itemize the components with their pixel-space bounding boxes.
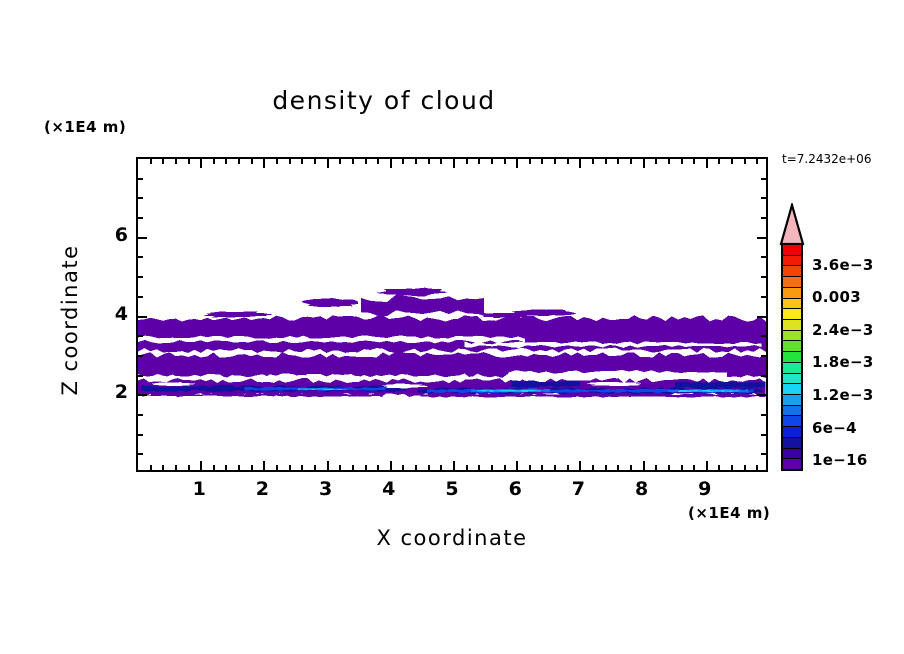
x-tick-minor bbox=[428, 465, 430, 470]
x-tick-top-minor bbox=[289, 159, 291, 164]
y-tick-minor bbox=[138, 434, 143, 436]
x-tick-top-minor bbox=[756, 159, 758, 164]
x-tick-minor bbox=[504, 465, 506, 470]
y-tick-right-minor bbox=[761, 256, 766, 258]
x-tick-top-minor bbox=[718, 159, 720, 164]
y-tick-label: 4 bbox=[88, 303, 128, 325]
colorbar-segment bbox=[783, 341, 801, 352]
x-tick-top-minor bbox=[478, 159, 480, 164]
x-tick-top-minor bbox=[567, 159, 569, 164]
x-tick-top-major bbox=[453, 159, 455, 168]
x-tick-minor bbox=[592, 465, 594, 470]
x-tick-top-minor bbox=[175, 159, 177, 164]
x-tick-minor bbox=[617, 465, 619, 470]
x-tick-top-major bbox=[579, 159, 581, 168]
x-tick-minor bbox=[314, 465, 316, 470]
colorbar-segment bbox=[783, 449, 801, 460]
x-tick-top-minor bbox=[402, 159, 404, 164]
x-tick-minor bbox=[440, 465, 442, 470]
x-tick-top-minor bbox=[162, 159, 164, 164]
y-tick-major bbox=[138, 394, 147, 396]
colorbar-segment bbox=[783, 374, 801, 385]
colorbar-segment bbox=[783, 277, 801, 288]
x-tick-minor bbox=[529, 465, 531, 470]
x-tick-minor bbox=[655, 465, 657, 470]
y-tick-right-minor bbox=[761, 178, 766, 180]
x-tick-minor bbox=[251, 465, 253, 470]
contour-patch-upper-crest bbox=[375, 288, 448, 297]
x-tick-top-minor bbox=[504, 159, 506, 164]
colorbar-tick-label: 3.6e−3 bbox=[812, 256, 874, 274]
x-tick-label: 5 bbox=[432, 478, 472, 500]
x-axis-unit-label: (×1E4 m) bbox=[688, 504, 770, 522]
y-tick-right-major bbox=[757, 316, 766, 318]
x-tick-top-minor bbox=[238, 159, 240, 164]
x-tick-top-minor bbox=[617, 159, 619, 164]
y-tick-right-minor bbox=[761, 197, 766, 199]
x-tick-top-minor bbox=[630, 159, 632, 164]
colorbar-segment bbox=[783, 266, 801, 277]
x-tick-major bbox=[263, 461, 265, 470]
colorbar-segment bbox=[783, 288, 801, 299]
colorbar-segment bbox=[783, 363, 801, 374]
x-tick-top-minor bbox=[592, 159, 594, 164]
colorbar-tick-label: 0.003 bbox=[812, 288, 861, 306]
y-tick-right-minor bbox=[761, 217, 766, 219]
x-tick-top-minor bbox=[554, 159, 556, 164]
x-tick-top-minor bbox=[744, 159, 746, 164]
y-tick-right-minor bbox=[761, 296, 766, 298]
y-tick-right-minor bbox=[761, 276, 766, 278]
colorbar-segment bbox=[783, 395, 801, 406]
x-tick-minor bbox=[605, 465, 607, 470]
y-tick-minor bbox=[138, 217, 143, 219]
x-tick-major bbox=[390, 461, 392, 470]
x-tick-minor bbox=[415, 465, 417, 470]
x-tick-minor bbox=[289, 465, 291, 470]
x-tick-minor bbox=[744, 465, 746, 470]
x-tick-major bbox=[453, 461, 455, 470]
x-tick-minor bbox=[491, 465, 493, 470]
x-tick-top-major bbox=[516, 159, 518, 168]
x-tick-minor bbox=[554, 465, 556, 470]
y-tick-label: 6 bbox=[88, 224, 128, 246]
x-tick-minor bbox=[402, 465, 404, 470]
x-tick-minor bbox=[238, 465, 240, 470]
x-tick-top-major bbox=[327, 159, 329, 168]
x-tick-top-minor bbox=[251, 159, 253, 164]
x-tick-top-minor bbox=[352, 159, 354, 164]
x-tick-minor bbox=[478, 465, 480, 470]
x-tick-top-minor bbox=[301, 159, 303, 164]
page-title: density of cloud bbox=[0, 86, 768, 115]
colorbar-segment bbox=[783, 320, 801, 331]
x-tick-minor bbox=[731, 465, 733, 470]
y-tick-right-major bbox=[757, 237, 766, 239]
colorbar-tick-label: 1.2e−3 bbox=[812, 386, 874, 404]
x-tick-top-minor bbox=[188, 159, 190, 164]
x-tick-minor bbox=[718, 465, 720, 470]
y-tick-minor bbox=[138, 335, 143, 337]
y-tick-right-minor bbox=[761, 414, 766, 416]
x-tick-minor bbox=[630, 465, 632, 470]
y-axis-title: Z coordinate bbox=[58, 220, 82, 420]
x-tick-minor bbox=[541, 465, 543, 470]
x-tick-label: 9 bbox=[685, 478, 725, 500]
x-tick-top-minor bbox=[213, 159, 215, 164]
colorbar-segment bbox=[783, 438, 801, 449]
colorbar-tick-label: 2.4e−3 bbox=[812, 321, 874, 339]
y-tick-right-minor bbox=[761, 434, 766, 436]
x-tick-label: 1 bbox=[179, 478, 219, 500]
contour-plot-figure: density of cloud (×1E4 m) (×1E4 m) t=7.2… bbox=[0, 0, 904, 654]
y-axis-unit-label: (×1E4 m) bbox=[44, 118, 126, 136]
colorbar bbox=[781, 243, 803, 471]
x-tick-top-minor bbox=[466, 159, 468, 164]
colorbar-segment bbox=[783, 245, 801, 256]
colorbar-segment bbox=[783, 427, 801, 438]
x-tick-top-major bbox=[643, 159, 645, 168]
colorbar-tick-label: 1e−16 bbox=[812, 451, 868, 469]
colorbar-segment bbox=[783, 459, 801, 469]
y-tick-major bbox=[138, 237, 147, 239]
x-tick-minor bbox=[162, 465, 164, 470]
x-tick-top-minor bbox=[668, 159, 670, 164]
x-tick-minor bbox=[301, 465, 303, 470]
x-tick-major bbox=[516, 461, 518, 470]
x-tick-minor bbox=[668, 465, 670, 470]
x-tick-label: 4 bbox=[369, 478, 409, 500]
colorbar-segment bbox=[783, 299, 801, 310]
x-tick-top-minor bbox=[150, 159, 152, 164]
y-tick-minor bbox=[138, 453, 143, 455]
time-stamp-label: t=7.2432e+06 bbox=[782, 152, 871, 166]
x-tick-label: 7 bbox=[558, 478, 598, 500]
colorbar-segment bbox=[783, 352, 801, 363]
y-tick-label: 2 bbox=[88, 381, 128, 403]
y-tick-minor bbox=[138, 355, 143, 357]
x-tick-minor bbox=[756, 465, 758, 470]
y-tick-right-minor bbox=[761, 355, 766, 357]
y-tick-minor bbox=[138, 276, 143, 278]
y-tick-right-minor bbox=[761, 453, 766, 455]
x-tick-minor bbox=[213, 465, 215, 470]
x-tick-top-minor bbox=[731, 159, 733, 164]
x-tick-top-minor bbox=[491, 159, 493, 164]
x-tick-label: 6 bbox=[495, 478, 535, 500]
x-tick-major bbox=[706, 461, 708, 470]
contour-layer-main bbox=[138, 315, 766, 353]
y-tick-minor bbox=[138, 375, 143, 377]
x-axis-title: X coordinate bbox=[136, 526, 768, 550]
x-tick-minor bbox=[225, 465, 227, 470]
x-tick-top-minor bbox=[415, 159, 417, 164]
y-tick-minor bbox=[138, 414, 143, 416]
contour-patch-upper-left bbox=[302, 298, 358, 307]
x-tick-major bbox=[643, 461, 645, 470]
colorbar-arrow-icon bbox=[779, 203, 805, 245]
x-tick-top-minor bbox=[428, 159, 430, 164]
colorbar-tick-label: 1.8e−3 bbox=[812, 353, 874, 371]
x-tick-top-minor bbox=[655, 159, 657, 164]
x-tick-top-minor bbox=[529, 159, 531, 164]
colorbar-segment bbox=[783, 416, 801, 427]
y-tick-major bbox=[138, 316, 147, 318]
x-tick-minor bbox=[175, 465, 177, 470]
x-tick-top-major bbox=[706, 159, 708, 168]
x-tick-major bbox=[579, 461, 581, 470]
x-tick-top-minor bbox=[225, 159, 227, 164]
x-tick-top-minor bbox=[365, 159, 367, 164]
plot-area bbox=[136, 157, 768, 472]
x-tick-top-minor bbox=[681, 159, 683, 164]
colorbar-tick-label: 6e−4 bbox=[812, 419, 857, 437]
contour-patch-upper-mid bbox=[361, 295, 484, 317]
contour-patch-upper-farleft bbox=[204, 311, 277, 317]
x-tick-top-major bbox=[200, 159, 202, 168]
y-tick-minor bbox=[138, 197, 143, 199]
x-tick-top-minor bbox=[605, 159, 607, 164]
colorbar-segment bbox=[783, 309, 801, 320]
x-tick-minor bbox=[567, 465, 569, 470]
x-tick-label: 2 bbox=[242, 478, 282, 500]
x-tick-top-minor bbox=[339, 159, 341, 164]
x-tick-minor bbox=[693, 465, 695, 470]
x-tick-top-minor bbox=[440, 159, 442, 164]
x-tick-label: 3 bbox=[306, 478, 346, 500]
x-tick-top-major bbox=[263, 159, 265, 168]
x-tick-minor bbox=[352, 465, 354, 470]
y-tick-minor bbox=[138, 178, 143, 180]
colorbar-segment bbox=[783, 256, 801, 267]
y-tick-right-minor bbox=[761, 375, 766, 377]
x-tick-major bbox=[200, 461, 202, 470]
x-tick-top-minor bbox=[377, 159, 379, 164]
y-tick-right-major bbox=[757, 394, 766, 396]
y-tick-right-minor bbox=[761, 335, 766, 337]
x-tick-label: 8 bbox=[622, 478, 662, 500]
y-tick-minor bbox=[138, 296, 143, 298]
colorbar-segment bbox=[783, 331, 801, 342]
x-tick-minor bbox=[150, 465, 152, 470]
x-tick-top-major bbox=[390, 159, 392, 168]
x-tick-top-minor bbox=[541, 159, 543, 164]
x-tick-top-minor bbox=[314, 159, 316, 164]
contour-field bbox=[138, 159, 766, 470]
x-tick-minor bbox=[681, 465, 683, 470]
y-tick-minor bbox=[138, 256, 143, 258]
x-tick-top-minor bbox=[693, 159, 695, 164]
x-tick-major bbox=[327, 461, 329, 470]
x-tick-minor bbox=[466, 465, 468, 470]
x-tick-minor bbox=[276, 465, 278, 470]
x-tick-minor bbox=[339, 465, 341, 470]
colorbar-segment bbox=[783, 406, 801, 417]
x-tick-minor bbox=[377, 465, 379, 470]
x-tick-minor bbox=[188, 465, 190, 470]
x-tick-top-minor bbox=[276, 159, 278, 164]
colorbar-segment bbox=[783, 384, 801, 395]
x-tick-minor bbox=[365, 465, 367, 470]
